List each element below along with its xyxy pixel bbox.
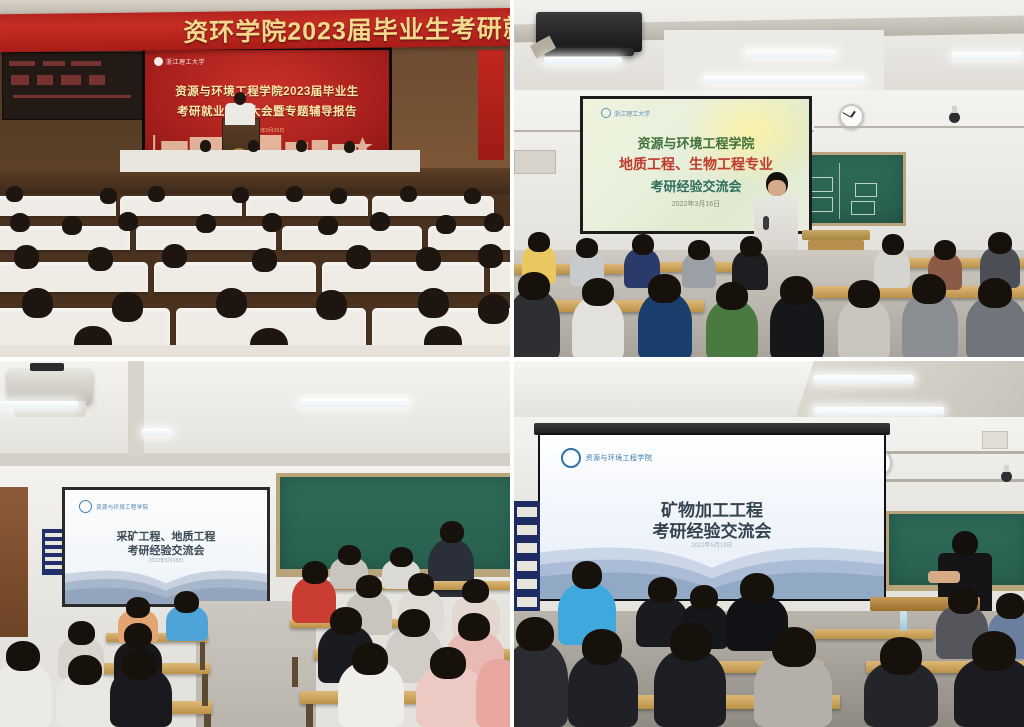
student-head	[356, 575, 382, 598]
panelist-head	[344, 141, 355, 153]
student-head	[948, 587, 978, 614]
student-head	[978, 278, 1012, 308]
student-head	[462, 579, 489, 603]
desk-leg	[292, 657, 298, 687]
speaker-head	[952, 531, 978, 557]
student-head	[882, 234, 904, 255]
logo-mark-icon	[601, 108, 611, 118]
auditorium-floor	[0, 345, 510, 357]
fluorescent-light	[814, 375, 914, 383]
panelist-head	[296, 140, 307, 152]
slide-logo-text: 浙江理工大学	[614, 109, 650, 118]
slide-title-line1: 采矿工程、地质工程	[65, 528, 267, 544]
wall-sign	[982, 431, 1008, 449]
speaker-arm	[928, 571, 960, 583]
seat-row	[246, 196, 368, 216]
student-head	[302, 561, 328, 584]
panelist-head	[200, 140, 211, 152]
classroom-door	[0, 487, 28, 637]
panel-top-left: 浙江理工大学 资源与环境工程学院2023届毕业生 考研就业动员大会暨专题辅导报告…	[0, 0, 510, 357]
student-head	[430, 647, 466, 679]
security-camera-icon	[949, 112, 960, 123]
photo-collage: 浙江理工大学 资源与环境工程学院2023届毕业生 考研就业动员大会暨专题辅导报告…	[0, 0, 1024, 727]
projector-mount	[30, 363, 64, 371]
slide-title-line1: 资源与环境工程学院	[583, 133, 809, 152]
student-head	[934, 240, 956, 260]
college-logo: 资源与环境工程学院	[561, 448, 653, 468]
student-head	[516, 617, 554, 651]
microphone-icon	[763, 216, 769, 230]
fluorescent-light	[704, 76, 864, 83]
fluorescent-light	[142, 429, 172, 436]
panel-top-right: 浙江理工大学 资源与环境工程学院 地质工程、生物工程专业 考研经验交流会 202…	[514, 0, 1024, 357]
student-head	[338, 545, 361, 565]
student-head	[400, 186, 417, 202]
student-head	[988, 232, 1012, 254]
student-body	[514, 290, 560, 357]
wall-rail	[814, 126, 1024, 128]
fluorescent-light	[814, 407, 944, 415]
student-head	[582, 278, 614, 306]
logo-mark-icon	[561, 448, 581, 468]
university-logo: 浙江理工大学	[154, 57, 205, 66]
student-head	[22, 288, 53, 318]
blackboard	[796, 152, 906, 226]
student-head	[262, 213, 282, 232]
student-head	[576, 238, 598, 258]
fluorescent-light	[746, 50, 836, 58]
open-book-graphic	[65, 556, 267, 604]
logo-mark-icon	[79, 500, 92, 513]
student-head	[122, 649, 157, 680]
desk-leg	[200, 642, 205, 670]
student-head	[408, 573, 434, 596]
fluorescent-light	[544, 57, 622, 64]
fluorescent-light	[300, 399, 410, 407]
university-logo: 浙江理工大学	[601, 108, 650, 118]
lecturer-face	[768, 180, 786, 196]
student-head	[10, 213, 30, 232]
student-head	[912, 274, 946, 304]
student-head	[68, 621, 95, 645]
student-head	[740, 573, 774, 603]
logo-mark-icon	[154, 57, 163, 66]
student-head	[484, 213, 504, 232]
student-head	[582, 629, 622, 665]
student-head	[648, 577, 677, 603]
fluorescent-light	[0, 401, 78, 409]
projector-base	[544, 48, 634, 56]
student-head	[780, 276, 813, 305]
student-head	[330, 607, 362, 635]
slide-logo-text: 资源与环境工程学院	[96, 503, 148, 511]
student-head	[996, 593, 1024, 619]
collage-gutter-horizontal	[0, 357, 1024, 361]
teacher-desk	[802, 230, 870, 240]
student-head	[398, 609, 430, 637]
panelist-head	[248, 140, 259, 152]
speaker-body	[225, 103, 255, 125]
student-head	[216, 288, 247, 318]
slide-logo-text: 资源与环境工程学院	[586, 453, 653, 463]
student-head	[670, 623, 712, 661]
student-head	[464, 188, 481, 204]
panel-bottom-left: 资源与环境工程学院 采矿工程、地质工程 考研经验交流会 2022年5月18日	[0, 361, 510, 727]
panel-bottom-right: 资源与环境工程学院 矿物加工工程 考研经验交流会 2022年5月19日	[514, 361, 1024, 727]
water-bottle	[900, 611, 907, 631]
student-head	[6, 186, 23, 202]
student-head	[100, 188, 117, 204]
student-body	[514, 641, 568, 727]
student-head	[346, 245, 371, 269]
college-logo: 资源与环境工程学院	[79, 500, 148, 513]
student-head	[716, 282, 748, 310]
student-head	[162, 244, 187, 268]
student-head	[436, 215, 456, 234]
desk-leg	[202, 674, 208, 706]
student-head	[62, 216, 82, 235]
student-head	[648, 274, 681, 303]
student-head	[632, 234, 654, 255]
student-head	[286, 186, 303, 202]
notice-poster	[514, 501, 540, 621]
student-head	[14, 245, 39, 269]
student-head	[196, 214, 216, 233]
standing-student-head	[440, 521, 464, 543]
student-head	[478, 244, 503, 268]
student-head	[126, 597, 150, 618]
student-head	[370, 212, 390, 231]
student-head	[478, 294, 509, 324]
student-head	[68, 655, 102, 685]
student-head	[418, 288, 449, 318]
student-head	[740, 236, 762, 257]
student-head	[112, 292, 143, 322]
student-head	[572, 561, 602, 589]
student-head	[688, 240, 710, 260]
student-head	[318, 216, 338, 235]
student-head	[972, 631, 1016, 671]
collage-gutter-vertical	[510, 0, 514, 727]
student-head	[118, 212, 138, 231]
projection-screen-3: 资源与环境工程学院 采矿工程、地质工程 考研经验交流会 2022年5月18日	[62, 487, 270, 607]
student-head	[848, 280, 880, 308]
student-head	[6, 641, 40, 671]
wall-fixture	[514, 150, 556, 174]
seat-row	[322, 262, 484, 292]
seat-row	[120, 196, 242, 216]
student-head	[458, 613, 490, 641]
ceiling-beam	[128, 361, 144, 457]
auditorium-ceiling	[0, 0, 510, 16]
student-head	[772, 627, 816, 667]
student-head	[352, 643, 388, 675]
student-head	[124, 623, 152, 648]
student-head	[252, 248, 277, 272]
desk-leg	[306, 704, 313, 727]
slide-3: 资源与环境工程学院 采矿工程、地质工程 考研经验交流会 2022年5月18日	[65, 490, 267, 604]
student-head	[88, 247, 113, 271]
student-head	[690, 585, 718, 610]
student-head	[416, 247, 441, 271]
student-body	[476, 659, 510, 727]
slide-title-line1: 资源与环境工程学院2023届毕业生	[175, 83, 359, 99]
student-head	[232, 187, 249, 203]
student-head	[528, 232, 550, 252]
led-display-left	[2, 52, 144, 120]
desk-leg	[204, 714, 211, 727]
student-head	[330, 188, 347, 204]
head-table	[120, 150, 420, 172]
slide-logo-text: 浙江理工大学	[166, 57, 205, 66]
security-camera-icon	[1001, 471, 1012, 482]
student-head	[880, 637, 922, 675]
student-head	[174, 591, 199, 613]
student-head	[316, 290, 347, 320]
speaker-head	[234, 92, 246, 105]
slide-title-line2: 考研就业动员大会暨专题辅导报告	[177, 103, 357, 119]
side-banner	[478, 50, 504, 160]
fluorescent-light	[952, 52, 1022, 60]
student-head	[518, 272, 550, 300]
student-head	[390, 547, 413, 567]
ceiling-projector	[8, 369, 92, 403]
student-head	[148, 186, 165, 202]
student-desk	[814, 629, 934, 639]
